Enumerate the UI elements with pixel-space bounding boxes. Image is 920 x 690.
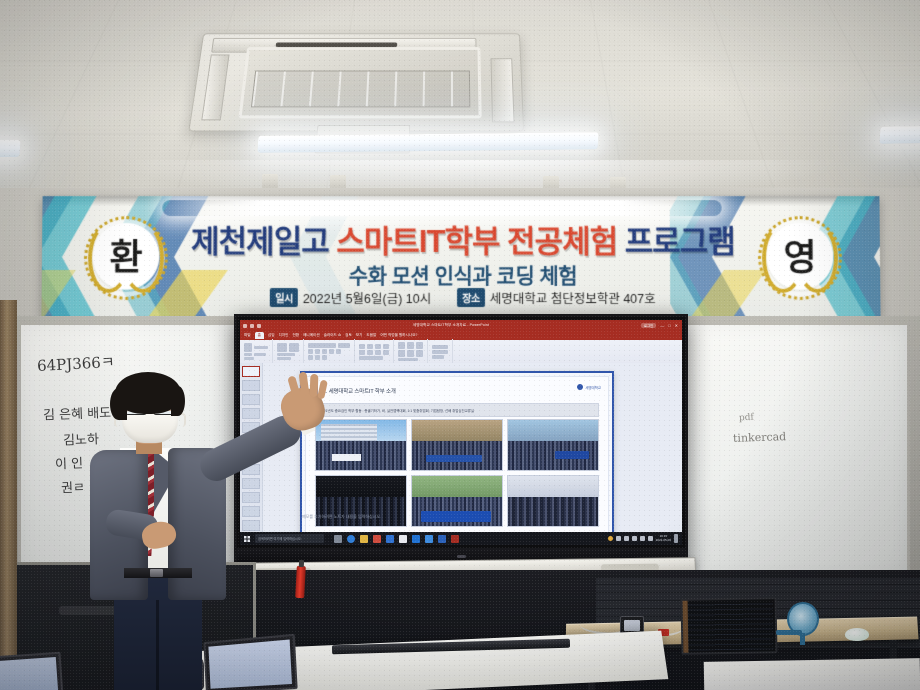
- close-icon[interactable]: ✕: [675, 323, 678, 328]
- settings-icon[interactable]: [425, 535, 433, 543]
- ribbon-group-font[interactable]: [304, 339, 355, 364]
- tray-icon[interactable]: [624, 536, 629, 541]
- taskbar-clock[interactable]: 10:15 2022-05-06: [656, 535, 671, 542]
- webcam-lens-icon: [624, 620, 640, 631]
- slide-highlight-text: 2021년도 중요검인 학부 활동 : 총궐기하기, 비, 실전캡핵대회, 1:…: [320, 408, 474, 413]
- tab-help[interactable]: 도움말: [366, 333, 376, 338]
- ac-vent-right: [490, 58, 514, 122]
- face-mask: [122, 411, 178, 443]
- pdf-reader-icon[interactable]: [373, 535, 381, 543]
- banner-title-dept: 스마트IT학부: [336, 224, 499, 259]
- banner-date-tag: 일시: [270, 288, 298, 307]
- control-monitor[interactable]: [681, 597, 778, 655]
- powerpoint-icon[interactable]: [451, 535, 459, 543]
- tray-icon[interactable]: [616, 536, 621, 541]
- ceiling-light-main: [257, 132, 598, 153]
- ac-vent-left: [201, 55, 229, 121]
- banner-title: 제천제일고 스마트IT학부 전공체험 프로그램: [138, 216, 788, 261]
- tab-file[interactable]: 파일: [244, 333, 251, 338]
- ribbon-group-slides[interactable]: [273, 339, 304, 364]
- laptop-screen[interactable]: [0, 657, 58, 690]
- ribbon-group-paragraph[interactable]: [355, 339, 394, 364]
- tab-insert[interactable]: 삽입: [268, 333, 275, 338]
- whiteboard-note-tinkercad: tinkercad: [733, 430, 787, 445]
- explorer-window-icon[interactable]: [412, 535, 420, 543]
- presenter-finger: [317, 379, 328, 399]
- network-icon[interactable]: [632, 536, 637, 541]
- slide-photo: [507, 475, 599, 527]
- ac-inner-panel: [238, 47, 481, 118]
- sign-in-button[interactable]: 로그인: [641, 323, 656, 328]
- banner-place-tag: 장소: [457, 288, 484, 307]
- ribbon[interactable]: [240, 340, 682, 364]
- minimize-icon[interactable]: —: [660, 323, 664, 328]
- undo-icon[interactable]: [250, 324, 254, 328]
- banner-place-group: 장소 세명대학교 첨단정보학관 407호: [457, 288, 655, 307]
- clock-date: 2022-05-06: [656, 539, 671, 542]
- welcome-banner: 환 영 제천제일고 스마트IT학부 전공체험 프로그램 수화 모션 인식과 코딩…: [41, 196, 880, 318]
- ceiling-light-left: [0, 140, 21, 157]
- banner-date-group: 일시 2022년 5월6일(금) 10시: [270, 288, 431, 307]
- ceiling-ac-unit: [188, 33, 524, 131]
- banner-place-value: 세명대학교 첨단정보학관 407호: [490, 288, 656, 307]
- document-title: 세명대학교 스마트IT학부 소개자료 - PowerPoint: [261, 323, 641, 328]
- ceiling: [0, 0, 920, 196]
- desk-fan-base: [776, 630, 802, 635]
- slide-header: 1. 세명대학교 스마트IT 학부 소개: [313, 383, 601, 398]
- slide-photo: [411, 419, 503, 471]
- ir-sensor-icon: [457, 555, 466, 558]
- logo-mark-icon: [577, 384, 583, 390]
- teams-icon[interactable]: [438, 535, 446, 543]
- tab-design[interactable]: 디자인: [279, 333, 289, 338]
- presenter-finger: [299, 372, 310, 397]
- presenter-belt: [124, 568, 192, 578]
- file-explorer-icon[interactable]: [360, 535, 368, 543]
- side-desk: [704, 658, 920, 690]
- ribbon-group-clipboard[interactable]: [240, 339, 273, 364]
- word-icon[interactable]: [386, 535, 394, 543]
- ribbon-group-editing[interactable]: [428, 339, 453, 364]
- whiteboard-note-names-4: 권ㄹ: [61, 477, 86, 497]
- slide-highlight-bar: 2021년도 중요검인 학부 활동 : 총궐기하기, 비, 실전캡핵대회, 1:…: [315, 403, 599, 417]
- paint-icon[interactable]: [399, 535, 407, 543]
- banner-date-value: 2022년 5월6일(금) 10시: [303, 288, 432, 307]
- university-logo: 세명대학교: [577, 384, 601, 390]
- tab-transitions[interactable]: 전환: [292, 333, 299, 338]
- whiteboard-note-names-3: 이 인: [55, 453, 84, 473]
- tab-view[interactable]: 보기: [356, 333, 363, 338]
- maximize-icon[interactable]: □: [668, 323, 670, 328]
- banner-info-row: 일시 2022년 5월6일(금) 10시 장소 세명대학교 첨단정보학관 407…: [138, 288, 789, 307]
- ime-icon[interactable]: [648, 536, 653, 541]
- powerpoint-title-bar: 세명대학교 스마트IT학부 소개자료 - PowerPoint 로그인 — □ …: [240, 320, 682, 331]
- banner-title-school: 제천제일고: [191, 224, 329, 259]
- wireless-mouse: [845, 628, 869, 641]
- whiteboard-note-pdf: pdf: [739, 412, 755, 423]
- wood-column: [0, 300, 17, 690]
- control-monitor-screen[interactable]: [688, 601, 774, 650]
- ac-grille: [251, 70, 470, 107]
- tell-me-box[interactable]: 어떤 작업을 원하시나요?: [380, 333, 417, 338]
- tab-slideshow[interactable]: 슬라이드 쇼: [324, 333, 342, 338]
- volume-icon[interactable]: [640, 536, 645, 541]
- banner-subtitle: 수화 모션 인식과 코딩 체험: [138, 260, 788, 290]
- whiteboard-right: pdf tinkercad: [672, 322, 910, 578]
- slide-photo: [507, 419, 599, 471]
- tab-home[interactable]: 홈: [255, 332, 264, 339]
- ribbon-group-drawing[interactable]: [394, 339, 428, 364]
- logo-text: 세명대학교: [585, 385, 601, 390]
- photo-scene: 환 영 제천제일고 스마트IT학부 전공체험 프로그램 수화 모션 인식과 코딩…: [0, 0, 920, 690]
- banner-title-program-kind: 전공체험: [507, 224, 617, 259]
- quick-access-toolbar[interactable]: [243, 324, 261, 328]
- notification-dot-icon[interactable]: [608, 536, 613, 541]
- presenter: [84, 372, 336, 690]
- edge-icon[interactable]: [347, 535, 355, 543]
- presenter-hair: [115, 372, 181, 414]
- window-controls[interactable]: — □ ✕: [660, 323, 678, 328]
- taskbar-pinned-apps[interactable]: [334, 535, 459, 543]
- tab-review[interactable]: 검토: [345, 333, 352, 338]
- save-icon[interactable]: [243, 324, 247, 328]
- banner-title-program: 프로그램: [625, 224, 735, 259]
- system-tray[interactable]: 10:15 2022-05-06: [608, 534, 682, 543]
- show-desktop-icon[interactable]: [674, 534, 678, 543]
- slide-photo-grid: [315, 419, 599, 527]
- slide-photo: [411, 475, 503, 527]
- student-laptop-2[interactable]: [0, 652, 63, 690]
- banner-light-reflection: [162, 200, 721, 216]
- ceiling-light-right: [879, 125, 920, 144]
- tab-animations[interactable]: 애니메이션: [303, 333, 320, 338]
